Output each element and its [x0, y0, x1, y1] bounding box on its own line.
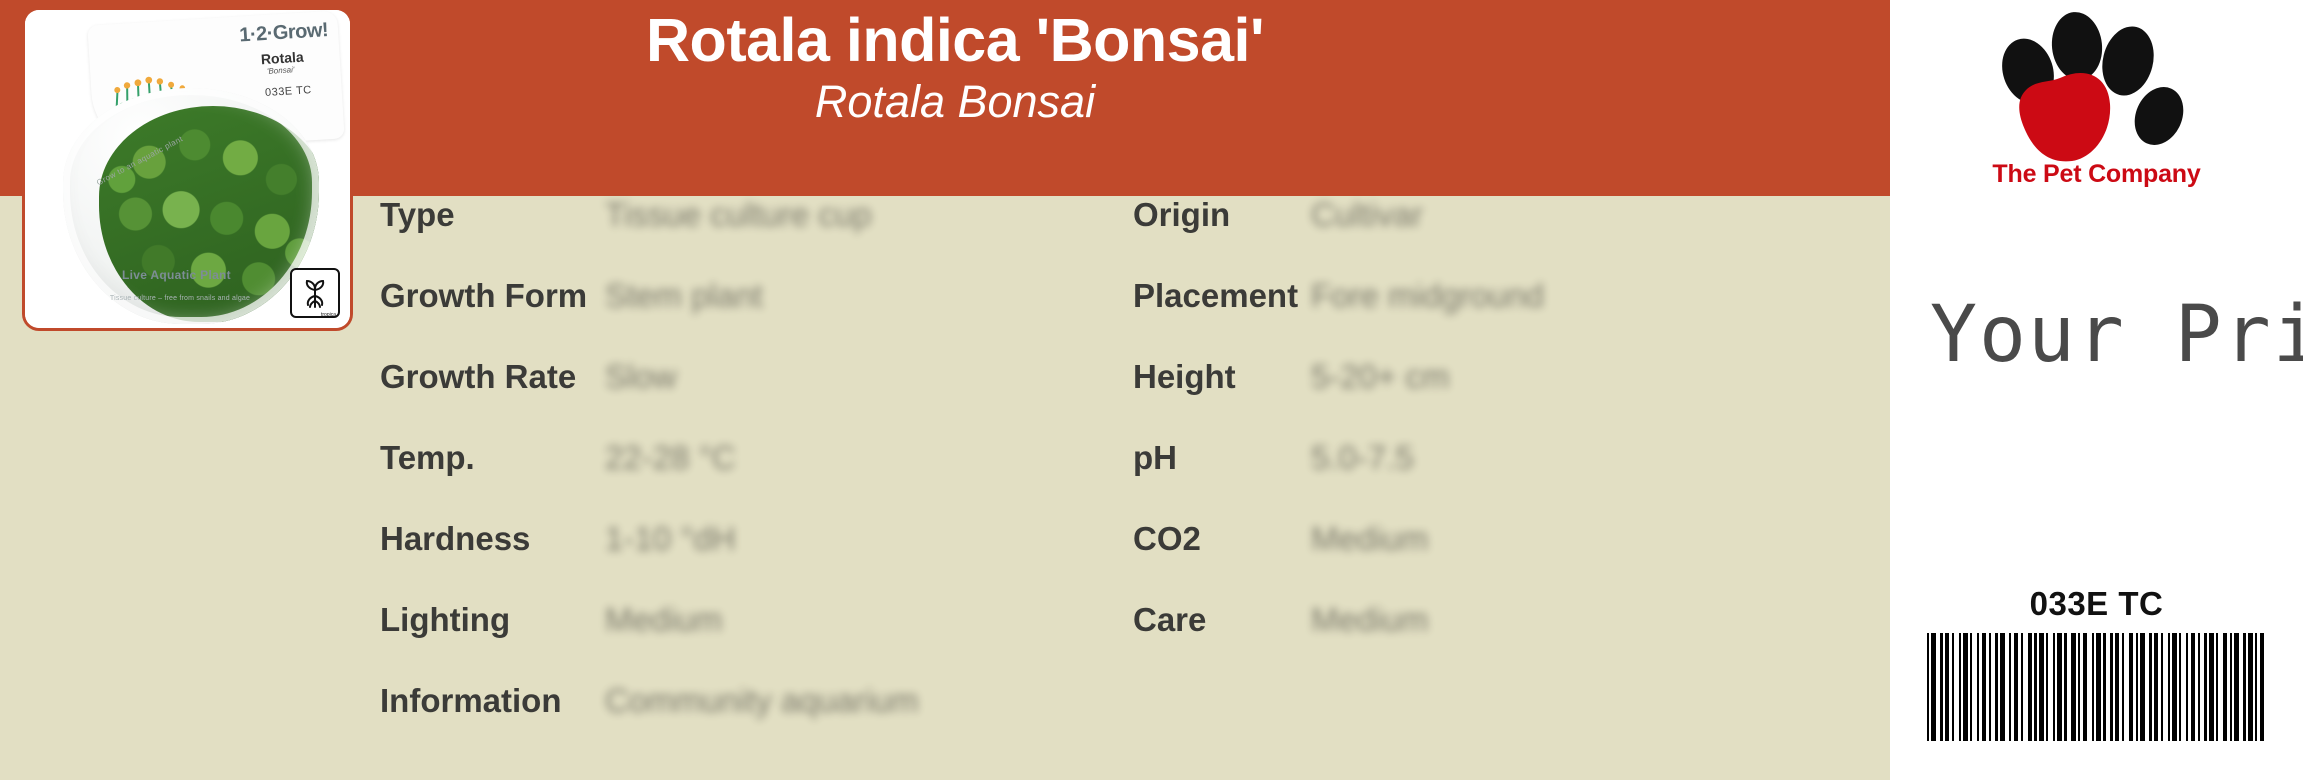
spec-row-co2: CO2 Medium	[1133, 520, 1693, 601]
spec-label: Temp.	[380, 439, 475, 477]
one-two-grow-logo: 1·2·Grow!	[239, 19, 329, 47]
spec-row-hardness: Hardness 1-10 °dH	[380, 520, 910, 601]
spec-value: Tissue culture cup	[605, 196, 872, 234]
spec-value: 5.0-7.5	[1311, 439, 1414, 477]
lid-code: 033E TC	[265, 84, 312, 99]
sku-code: 033E TC	[1890, 585, 2303, 623]
shelf-label: Rotala indica 'Bonsai' Rotala Bonsai 1·2…	[0, 0, 2303, 780]
barcode	[1927, 633, 2267, 741]
spec-label: Origin	[1133, 196, 1230, 234]
spec-row-information: Information Community aquarium	[380, 682, 910, 763]
spec-row-lighting: Lighting Medium	[380, 601, 910, 682]
spec-value: 1-10 °dH	[605, 520, 736, 558]
spec-row-type: Type Tissue culture cup	[380, 196, 910, 277]
spec-value: Medium	[605, 601, 722, 639]
tropica-logo-icon: tropica	[290, 268, 340, 318]
spec-value: 5-20+ cm	[1311, 358, 1449, 396]
spec-row-height: Height 5-20+ cm	[1133, 358, 1693, 439]
price-panel: The Pet Company Your Price 033E TC	[1890, 0, 2303, 780]
lid-species: Rotala	[260, 49, 304, 68]
page-title: Rotala indica 'Bonsai'	[350, 6, 1560, 74]
spec-label: Care	[1133, 601, 1206, 639]
spec-row-growth-form: Growth Form Stem plant	[380, 277, 910, 358]
spec-column-right: Origin Cultivar Placement Fore midground…	[1133, 196, 1693, 682]
spec-value: Cultivar	[1311, 196, 1423, 234]
tropica-plant-glyph	[298, 276, 332, 310]
spec-label: Placement	[1133, 277, 1298, 315]
lid-cultivar: 'Bonsai'	[267, 65, 295, 76]
spec-row-care: Care Medium	[1133, 601, 1693, 682]
spec-column-left: Type Tissue culture cup Growth Form Stem…	[380, 196, 910, 763]
spec-label: Hardness	[380, 520, 530, 558]
fine-print-text: Tissue culture – free from snails and al…	[85, 295, 275, 302]
page-subtitle: Rotala Bonsai	[350, 76, 1560, 128]
spec-value: Medium	[1311, 520, 1428, 558]
spec-label: Lighting	[380, 601, 510, 639]
barcode-bar	[2264, 633, 2266, 741]
main-card: Rotala indica 'Bonsai' Rotala Bonsai 1·2…	[0, 0, 1890, 780]
plant-mass	[99, 106, 319, 322]
tissue-culture-cup: Grow to an aquatic plant	[63, 88, 319, 324]
your-price-label: Your Price	[1930, 290, 2303, 380]
spec-value: Community aquarium	[605, 682, 919, 720]
title-block: Rotala indica 'Bonsai' Rotala Bonsai	[350, 6, 1560, 128]
brand-name: The Pet Company	[1890, 160, 2303, 189]
spec-value: Medium	[1311, 601, 1428, 639]
tropica-wordmark: tropica	[321, 312, 336, 318]
live-plant-text: Live Aquatic Plant	[69, 268, 284, 282]
spec-row-origin: Origin Cultivar	[1133, 196, 1693, 277]
product-photo-card: 1·2·Grow! Rotala 'Bonsai' 033E TC	[25, 10, 350, 328]
spec-label: Growth Form	[380, 277, 587, 315]
spec-row-placement: Placement Fore midground	[1133, 277, 1693, 358]
spec-value: 22-28 °C	[605, 439, 736, 477]
spec-row-ph: pH 5.0-7.5	[1133, 439, 1693, 520]
spec-value: Stem plant	[605, 277, 763, 315]
spec-value: Fore midground	[1311, 277, 1544, 315]
product-photo: 1·2·Grow! Rotala 'Bonsai' 033E TC	[25, 10, 350, 328]
spec-label: Height	[1133, 358, 1236, 396]
spec-label: CO2	[1133, 520, 1201, 558]
spec-label: Information	[380, 682, 561, 720]
spec-label: pH	[1133, 439, 1177, 477]
spec-value: Slow	[605, 358, 677, 396]
spec-label: Type	[380, 196, 455, 234]
paw-logo-icon	[1982, 8, 2212, 178]
spec-row-temp: Temp. 22-28 °C	[380, 439, 910, 520]
spec-row-growth-rate: Growth Rate Slow	[380, 358, 910, 439]
spec-label: Growth Rate	[380, 358, 576, 396]
